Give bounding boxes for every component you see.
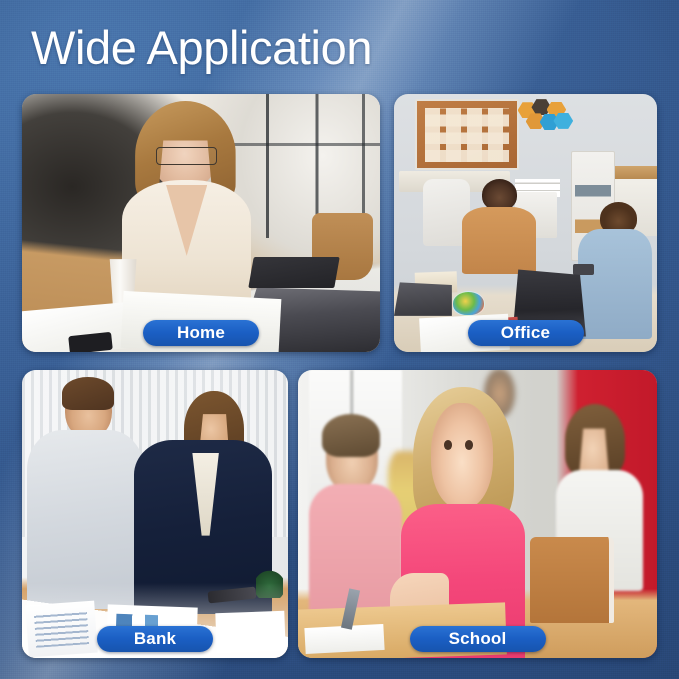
panel-office[interactable]: Office [394,94,657,352]
photo-home [22,94,380,352]
glasses-icon [156,147,217,165]
panel-bank[interactable]: Bank [22,370,288,658]
page-title: Wide Application [31,20,372,76]
hair [322,414,380,457]
person-left [27,382,144,601]
photo-office [394,94,657,352]
panel-label-home: Home [143,320,259,346]
photo-bank [22,370,288,658]
notebook [248,257,339,288]
head [431,403,493,509]
chart-document [216,611,287,654]
cork-board [415,99,519,170]
panel-school[interactable]: School [298,370,657,658]
child-boy [309,422,402,618]
smartphone [573,264,594,274]
eye [444,440,452,450]
head [482,179,517,211]
candy-bowl [452,291,486,316]
panel-label-school: School [410,626,546,652]
photo-school [298,370,657,658]
panel-home[interactable]: Home [22,94,380,352]
notebook [305,624,385,654]
hair [62,377,113,410]
person-right [134,399,272,606]
laptop [394,282,452,316]
hexagon-wall-decor [518,99,576,130]
pinned-notes [425,108,509,162]
chart-document [26,601,99,658]
wide-application-poster: Wide Application Home [0,0,679,679]
shirt [578,229,652,339]
desk-chair [530,537,614,623]
panel-label-bank: Bank [97,626,213,652]
panel-label-office: Office [468,320,584,346]
person-standing [462,179,536,272]
shirt [462,207,536,274]
smartphone [68,332,113,352]
